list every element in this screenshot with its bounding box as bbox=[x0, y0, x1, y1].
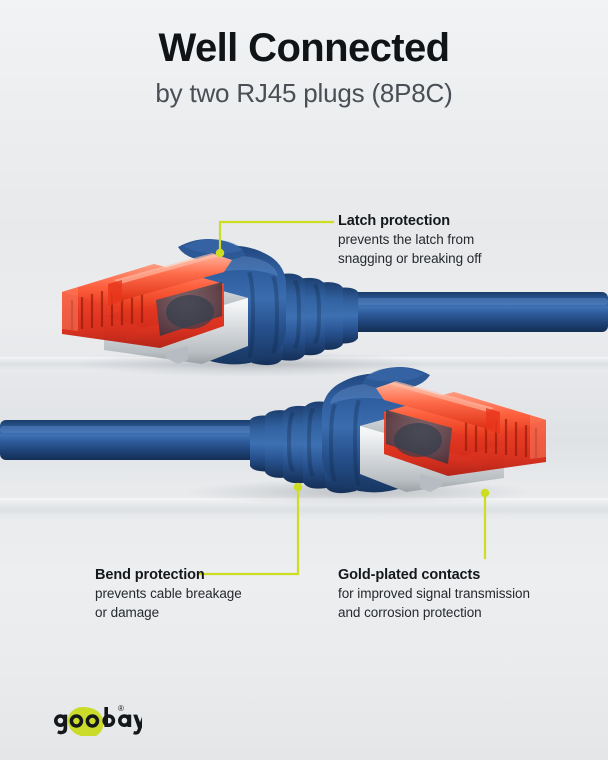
callout-latch-heading: Latch protection bbox=[338, 212, 481, 230]
callout-gold-line2: and corrosion protection bbox=[338, 603, 530, 622]
callout-bend-line1: prevents cable breakage bbox=[95, 584, 242, 603]
callout-gold-heading: Gold-plated contacts bbox=[338, 566, 530, 584]
callout-latch-line1: prevents the latch from bbox=[338, 230, 481, 249]
callout-latch-protection: Latch protection prevents the latch from… bbox=[338, 212, 481, 268]
cable-highlight-bottom bbox=[0, 426, 256, 433]
infographic-page: Well Connected by two RJ45 plugs (8P8C) bbox=[0, 0, 608, 760]
callout-bend-line2: or damage bbox=[95, 603, 242, 622]
connector-bottom bbox=[0, 367, 546, 505]
logo-registered-mark: ® bbox=[118, 704, 124, 713]
callout-latch-line2: snagging or breaking off bbox=[338, 249, 481, 268]
callout-gold-plated-contacts: Gold-plated contacts for improved signal… bbox=[338, 566, 530, 622]
callout-gold-line1: for improved signal transmission bbox=[338, 584, 530, 603]
product-illustration bbox=[0, 0, 608, 760]
callout-bend-heading: Bend protection bbox=[95, 566, 242, 584]
cable-highlight-top bbox=[352, 298, 608, 305]
goobay-logo bbox=[46, 702, 142, 736]
callout-bend-protection: Bend protection prevents cable breakage … bbox=[95, 566, 242, 622]
connector-top bbox=[62, 239, 608, 377]
